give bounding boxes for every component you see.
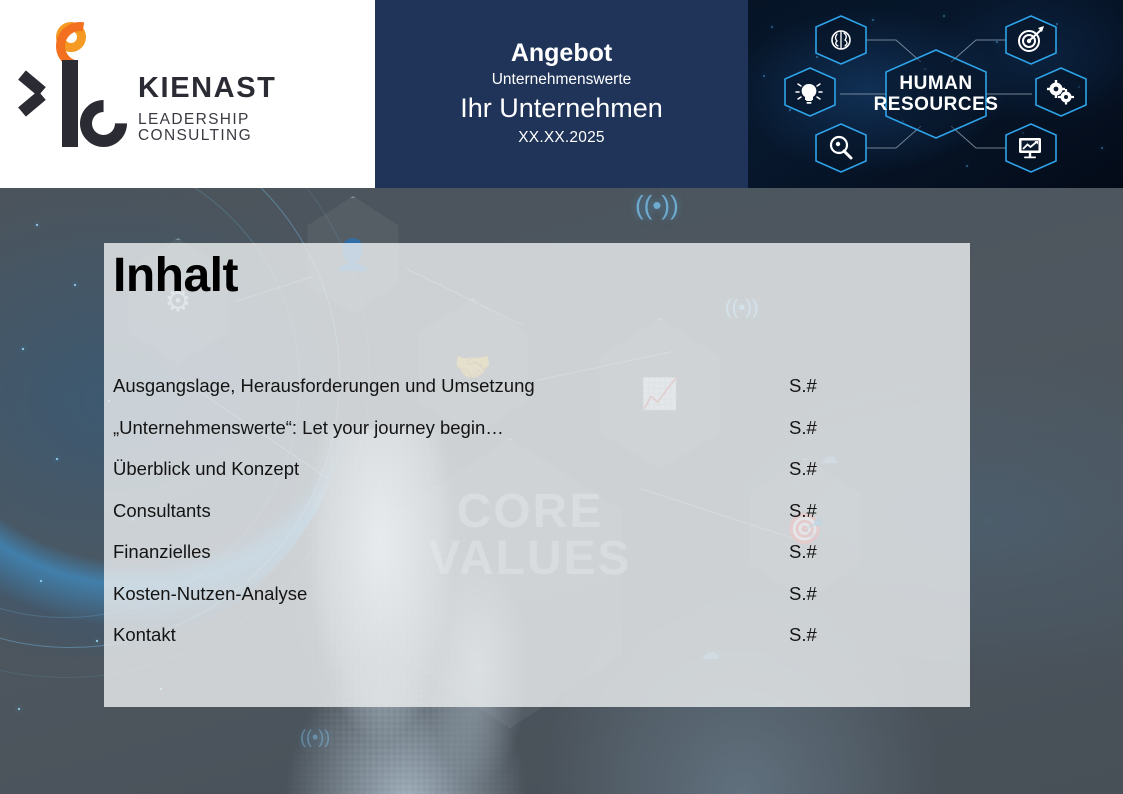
table-of-contents: Ausgangslage, Herausforderungen und Umse…	[113, 374, 961, 665]
header-hr-image: .hxo{fill:rgba(8,20,38,.55);stroke:#2ea3…	[748, 0, 1123, 188]
toc-item[interactable]: Ausgangslage, Herausforderungen und Umse…	[113, 374, 961, 416]
brand-logo: KIENAST LEADERSHIP CONSULTING	[20, 22, 360, 167]
brand-name: KIENAST	[138, 74, 360, 103]
toc-item-page: S.#	[789, 582, 817, 605]
wifi-signal-icon: ((•))	[635, 192, 679, 218]
toc-item-label: Überblick und Konzept	[113, 457, 789, 480]
slide-root: KIENAST LEADERSHIP CONSULTING Angebot Un…	[0, 0, 1123, 794]
toc-item-page: S.#	[789, 499, 817, 522]
toc-item[interactable]: Überblick und Konzept S.#	[113, 457, 961, 499]
offer-subheading: Unternehmenswerte	[492, 69, 632, 91]
toc-item-label: Ausgangslage, Herausforderungen und Umse…	[113, 374, 789, 397]
kienast-logo-mark-icon	[20, 22, 125, 147]
toc-item-label: Kontakt	[113, 623, 789, 646]
logo-c-icon	[70, 90, 136, 156]
toc-item-page: S.#	[789, 457, 817, 480]
toc-item-page: S.#	[789, 374, 817, 397]
toc-item-label: Finanzielles	[113, 540, 789, 563]
page-title: Inhalt	[113, 249, 238, 303]
content-panel: Inhalt Ausgangslage, Herausforderungen u…	[104, 243, 970, 707]
toc-item-label: Consultants	[113, 499, 789, 522]
header-logo-cell: KIENAST LEADERSHIP CONSULTING	[0, 0, 375, 188]
offer-date: XX.XX.2025	[518, 126, 604, 149]
toc-item[interactable]: Consultants S.#	[113, 499, 961, 541]
hr-hexagon-network: .hxo{fill:rgba(8,20,38,.55);stroke:#2ea3…	[748, 0, 1123, 188]
toc-item[interactable]: Kontakt S.#	[113, 623, 961, 665]
logo-chevron-icon	[20, 66, 54, 112]
brand-logo-text: KIENAST LEADERSHIP CONSULTING	[138, 74, 360, 143]
toc-item[interactable]: Kosten-Nutzen-Analyse S.#	[113, 582, 961, 624]
toc-item[interactable]: „Unternehmenswerte“: Let your journey be…	[113, 416, 961, 458]
logo-bar-icon	[62, 60, 78, 147]
offer-company: Ihr Unternehmen	[460, 91, 663, 126]
toc-item[interactable]: Finanzielles S.#	[113, 540, 961, 582]
header-title-cell: Angebot Unternehmenswerte Ihr Unternehme…	[375, 0, 748, 188]
offer-heading: Angebot	[511, 38, 612, 69]
toc-item-page: S.#	[789, 623, 817, 646]
toc-item-page: S.#	[789, 540, 817, 563]
svg-text:HUMAN: HUMAN	[899, 73, 972, 94]
slide-header: KIENAST LEADERSHIP CONSULTING Angebot Un…	[0, 0, 1123, 188]
toc-item-label: Kosten-Nutzen-Analyse	[113, 582, 789, 605]
toc-item-page: S.#	[789, 416, 817, 439]
logo-dot-icon	[56, 22, 86, 52]
brand-tagline: LEADERSHIP CONSULTING	[138, 112, 360, 143]
toc-item-label: „Unternehmenswerte“: Let your journey be…	[113, 416, 789, 439]
svg-text:RESOURCES: RESOURCES	[874, 94, 999, 115]
